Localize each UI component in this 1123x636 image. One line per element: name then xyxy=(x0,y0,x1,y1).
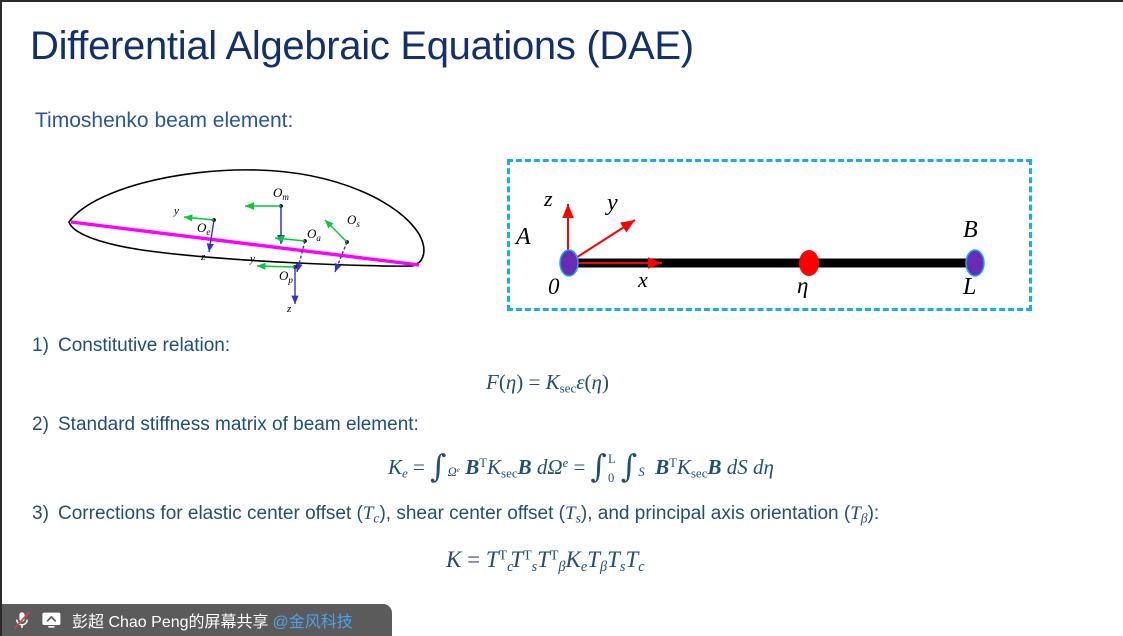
beam-element-figure: A 0 B L η x y z xyxy=(507,159,1032,311)
airfoil-svg: Om Oe y z Oa Os Op y z xyxy=(47,162,447,322)
eq3-term-6: T xyxy=(625,547,638,572)
eq2-Ksec-1: K xyxy=(487,455,501,479)
beam-label-0: 0 xyxy=(548,274,560,300)
eq1-arg1: η xyxy=(506,370,516,394)
eq3-term-1: T xyxy=(510,547,523,572)
label-Oe: Oe xyxy=(197,220,210,237)
eq3-K: K xyxy=(446,547,461,572)
eq2-int2-upper: L xyxy=(608,453,616,466)
label-Om: Om xyxy=(273,185,289,202)
eq2-deta: dη xyxy=(753,455,774,479)
eq3-term-4: T xyxy=(587,547,600,572)
eq2-B-1-T: T xyxy=(479,456,487,470)
eq2-equals-2: = xyxy=(573,455,585,479)
list-item-3: 3)Corrections for elastic center offset … xyxy=(32,503,879,526)
axis-y-arrow xyxy=(568,220,635,263)
eq2-B-4: B xyxy=(707,455,721,479)
eq2-int2-lower: 0 xyxy=(608,472,616,485)
eq1-arg2: η xyxy=(592,370,602,394)
list-item-2: 2)Standard stiffness matrix of beam elem… xyxy=(32,414,419,436)
equation-3: K = TTcTTsTTβKeTβTsTc xyxy=(446,547,645,576)
eq1-K-sub: sec xyxy=(560,381,577,396)
eq2-B-2: B xyxy=(518,455,532,479)
eq3-sub-2: β xyxy=(558,559,565,575)
eq3-equals: = xyxy=(467,547,480,572)
eq2-B-3-T: T xyxy=(669,456,677,470)
eq2-dOmega-sup: e xyxy=(563,456,569,470)
eq2-dOmega: dΩ xyxy=(537,455,563,479)
eq2-Ksec-2: K xyxy=(677,455,691,479)
list-item-3-sym-Tb: T xyxy=(850,503,861,524)
eq1-epsilon: ε xyxy=(576,370,584,394)
label-Op-z: z xyxy=(286,303,292,315)
label-Oa: Oa xyxy=(307,226,321,243)
eq2-integral-2: ∫ xyxy=(591,449,607,485)
screen-share-bar: 彭超 Chao Peng的屏幕共享 @金风科技 xyxy=(2,604,392,636)
list-item-3-sym-Tc: T xyxy=(363,503,374,524)
eq2-dS: dS xyxy=(727,455,748,479)
eq2-Ksec-1-sub: sec xyxy=(501,466,518,481)
page-title: Differential Algebraic Equations (DAE) xyxy=(30,24,694,69)
eq2-K: K xyxy=(388,455,402,479)
eq3-terms: TTcTTsTTβKeTβTsTc xyxy=(486,547,645,572)
beam-label-A: A xyxy=(516,224,531,251)
share-org-text: @金风科技 xyxy=(273,608,353,632)
list-item-3-text-a: Corrections for elastic center offset ( xyxy=(58,503,363,524)
beam-label-B: B xyxy=(963,217,978,244)
eq2-K-sub: e xyxy=(402,466,408,481)
share-owner-text: 彭超 Chao Peng的屏幕共享 xyxy=(72,608,269,632)
list-item-2-number: 2) xyxy=(32,414,58,436)
Oa-y-arrow xyxy=(275,238,305,241)
label-Os: Os xyxy=(347,212,360,229)
eq3-term-3: K xyxy=(566,547,581,572)
eq2-equals-1: = xyxy=(413,455,425,479)
beam-axis-label-y: y xyxy=(607,190,618,217)
label-Op-y: y xyxy=(249,253,255,265)
equation-1: F(η) = Ksecε(η) xyxy=(486,370,609,397)
list-item-1: 1)Constitutive relation: xyxy=(32,335,230,357)
list-item-3-sym-Ts: T xyxy=(565,503,576,524)
Op-y-arrow xyxy=(257,266,295,267)
beam-svg xyxy=(510,162,1029,308)
mic-muted-icon[interactable] xyxy=(12,610,32,631)
eq2-int3-sub: S xyxy=(638,465,644,479)
label-Oe-y: y xyxy=(173,205,179,217)
list-item-1-number: 1) xyxy=(32,335,58,357)
eq2-integral-1: ∫ xyxy=(430,449,446,485)
list-item-3-text-c: ), and principal axis orientation ( xyxy=(581,503,850,524)
Os-y-arrow xyxy=(325,220,347,242)
node-B xyxy=(966,250,984,276)
list-item-3-number: 3) xyxy=(32,503,58,525)
beam-axis-label-z: z xyxy=(544,186,553,212)
eq2-integral-3: ∫ xyxy=(621,449,637,485)
eq1-K: K xyxy=(546,370,560,394)
eq2-B-3: B xyxy=(655,455,669,479)
list-item-3-sub-beta: β xyxy=(861,510,868,525)
eq3-term-2: T xyxy=(537,547,550,572)
slide-canvas: Differential Algebraic Equations (DAE) T… xyxy=(0,0,1123,636)
eq3-sub-6: c xyxy=(638,559,644,575)
label-Op: Op xyxy=(279,268,293,285)
chord-line xyxy=(71,222,419,265)
list-item-3-text-d: ): xyxy=(868,503,880,524)
Oa-z-arrow xyxy=(297,241,305,272)
list-item-1-text: Constitutive relation: xyxy=(58,335,230,356)
eq1-F: F xyxy=(486,370,499,394)
eq2-B-1: B xyxy=(465,455,479,479)
label-Oe-z: z xyxy=(200,251,206,263)
beam-label-L: L xyxy=(963,274,976,301)
eq2-int1-sup: e xyxy=(457,465,460,474)
eq1-equals: = xyxy=(529,370,541,394)
list-item-3-text-b: ), shear center offset ( xyxy=(379,503,565,524)
airfoil-outline xyxy=(69,170,424,266)
eq3-term-5: T xyxy=(607,547,620,572)
node-A xyxy=(560,250,578,276)
eq3-term-0: T xyxy=(486,547,499,572)
eq2-int1-sub: Ω xyxy=(448,465,457,479)
eq3-sup-0: T xyxy=(499,547,507,562)
list-item-2-text: Standard stiffness matrix of beam elemen… xyxy=(58,414,419,435)
eq3-sup-1: T xyxy=(523,547,531,562)
equation-2: Ke = ∫Ωe BTKsecB dΩe = ∫L0 ∫S BTKsecB dS… xyxy=(388,455,774,482)
section-subtitle: Timoshenko beam element: xyxy=(35,109,293,133)
eq2-Ksec-2-sub: sec xyxy=(691,466,708,481)
beam-axis-label-x: x xyxy=(638,267,648,293)
airfoil-cross-section-figure: Om Oe y z Oa Os Op y z xyxy=(47,162,447,322)
beam-label-eta: η xyxy=(797,273,808,299)
screen-share-icon[interactable] xyxy=(41,611,62,629)
